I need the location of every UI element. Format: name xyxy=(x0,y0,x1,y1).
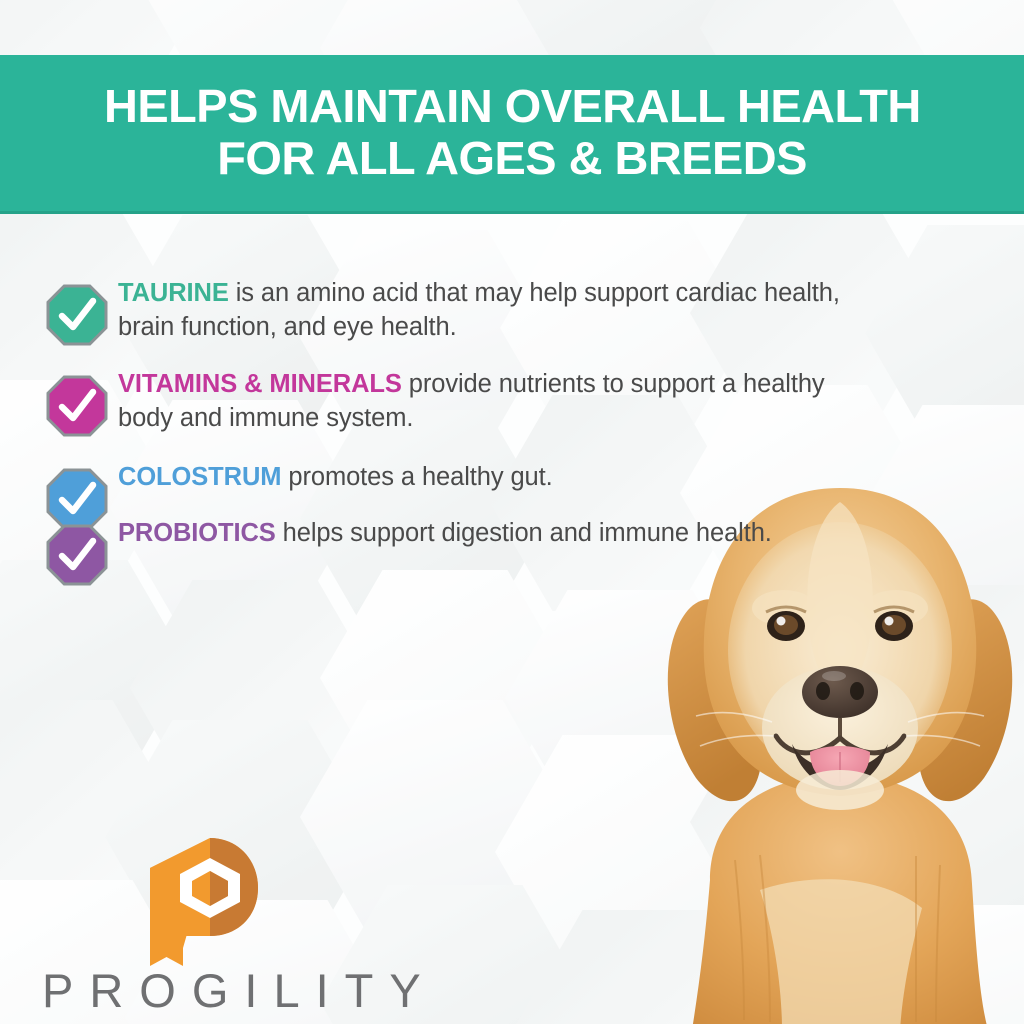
benefit-description: helps support digestion and immune healt… xyxy=(276,519,772,547)
benefit-keyword: VITAMINS & MINERALS xyxy=(118,370,402,398)
banner-headline-line2: FOR ALL AGES & BREEDS xyxy=(217,133,807,185)
list-item: PROBIOTICS helps support digestion and i… xyxy=(46,516,886,550)
benefits-list: TAURINE is an amino acid that may help s… xyxy=(46,276,886,563)
list-item-text: PROBIOTICS helps support digestion and i… xyxy=(118,516,886,550)
list-item-text: TAURINE is an amino acid that may help s… xyxy=(118,276,886,344)
list-item: COLOSTRUM promotes a healthy gut. xyxy=(46,460,886,494)
list-item: TAURINE is an amino acid that may help s… xyxy=(46,276,886,344)
header-banner: HELPS MAINTAIN OVERALL HEALTH FOR ALL AG… xyxy=(0,55,1024,214)
brand-wordmark: PROGILITY xyxy=(42,963,437,1018)
progility-hex-p-logo xyxy=(150,838,270,966)
benefit-description: promotes a healthy gut. xyxy=(281,463,552,491)
list-item-text: VITAMINS & MINERALS provide nutrients to… xyxy=(118,367,886,435)
list-item: VITAMINS & MINERALS provide nutrients to… xyxy=(46,367,886,435)
infographic-page: HELPS MAINTAIN OVERALL HEALTH FOR ALL AG… xyxy=(0,0,1024,1024)
benefit-keyword: COLOSTRUM xyxy=(118,463,281,491)
benefit-keyword: TAURINE xyxy=(118,279,229,307)
banner-headline-line1: HELPS MAINTAIN OVERALL HEALTH xyxy=(104,81,921,133)
benefit-keyword: PROBIOTICS xyxy=(118,519,276,547)
check-octagon-icon xyxy=(46,524,108,586)
check-octagon-icon xyxy=(46,375,108,437)
check-octagon-icon xyxy=(46,284,108,346)
list-item-text: COLOSTRUM promotes a healthy gut. xyxy=(118,460,886,494)
